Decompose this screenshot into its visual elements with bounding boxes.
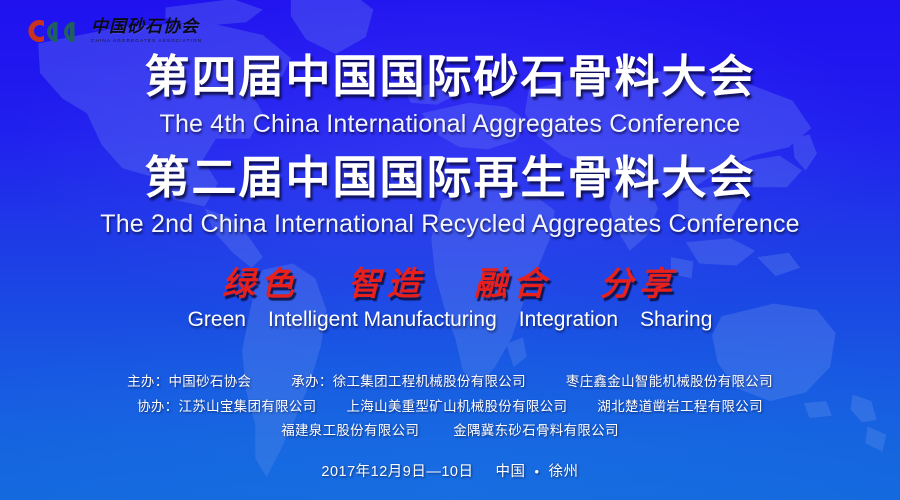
organizer-coorganizer-5: 金隅冀东砂石骨料有限公司	[453, 424, 619, 438]
conference-title-zh-1: 第四届中国国际砂石骨料大会	[144, 54, 755, 99]
conference-title-zh-2: 第二届中国国际再生骨料大会	[144, 155, 755, 200]
conference-banner: 中国砂石协会 CHINA AGGREGATES ASSOCIATION 第四届中…	[0, 0, 900, 500]
theme-word-en-2: Intelligent Manufacturing	[268, 309, 497, 330]
theme-word-en-3: Integration	[519, 309, 618, 330]
event-city: 徐州	[549, 465, 579, 480]
organizer-row-coorganizer-2: 福建泉工股份有限公司 金隅冀东砂石骨料有限公司	[281, 424, 619, 438]
location-separator-dot: •	[535, 465, 540, 478]
theme-word-zh-2: 智造	[348, 267, 426, 300]
theme-word-zh-1: 绿色	[222, 267, 300, 300]
event-date: 2017年12月9日—10日	[321, 465, 473, 480]
organizer-undertaker-2: 枣庄鑫金山智能机械股份有限公司	[566, 375, 773, 389]
event-country: 中国	[496, 465, 526, 480]
theme-word-zh-3: 融合	[474, 267, 552, 300]
event-date-location: 2017年12月9日—10日 中国 • 徐州	[321, 465, 578, 480]
conference-title-en-2: The 2nd China International Recycled Agg…	[100, 212, 800, 237]
organizer-row-host: 主办：中国砂石协会 承办：徐工集团工程机械股份有限公司 枣庄鑫金山智能机械股份有…	[127, 375, 773, 389]
organizer-host: 主办：中国砂石协会	[127, 375, 251, 389]
organizer-row-coorganizer: 协办：江苏山宝集团有限公司 上海山美重型矿山机械股份有限公司 湖北楚道凿岩工程有…	[137, 400, 763, 414]
theme-word-zh-4: 分享	[600, 267, 678, 300]
organizer-undertaker-1: 承办：徐工集团工程机械股份有限公司	[291, 375, 526, 389]
organizers-block: 主办：中国砂石协会 承办：徐工集团工程机械股份有限公司 枣庄鑫金山智能机械股份有…	[127, 375, 773, 438]
event-location: 中国 • 徐州	[496, 465, 579, 480]
conference-title-en-1: The 4th China International Aggregates C…	[159, 112, 740, 137]
theme-word-en-1: Green	[188, 309, 246, 330]
organizer-coorganizer-1: 协办：江苏山宝集团有限公司	[137, 400, 316, 414]
theme-slogan-zh: 绿色 智造 融合 分享	[222, 267, 678, 300]
banner-content: 第四届中国国际砂石骨料大会 The 4th China Internationa…	[0, 0, 900, 500]
theme-word-en-4: Sharing	[640, 309, 712, 330]
organizer-coorganizer-4: 福建泉工股份有限公司	[281, 424, 419, 438]
organizer-coorganizer-2: 上海山美重型矿山机械股份有限公司	[346, 400, 567, 414]
organizer-coorganizer-3: 湖北楚道凿岩工程有限公司	[597, 400, 763, 414]
theme-slogan-en: Green Intelligent Manufacturing Integrat…	[188, 309, 713, 330]
